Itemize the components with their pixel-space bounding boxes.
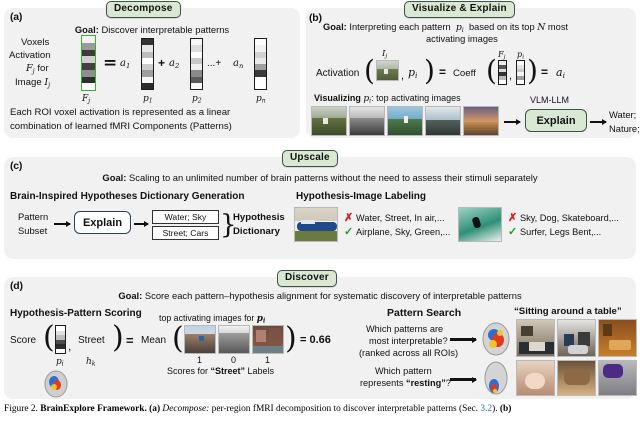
- score-value-1: 1: [197, 355, 202, 365]
- panel-b-activation-word: Activation: [316, 68, 359, 79]
- scores-caption-post: Labels: [245, 366, 274, 376]
- panel-b-coeff-word: Coeff: [453, 68, 476, 79]
- badge-visualize-explain: Visualize & Explain: [404, 1, 515, 18]
- panel-b-visualizing-caption: Visualizing pi: top activating images: [314, 93, 461, 105]
- panel-b-vlm-label: VLM-LLM: [530, 95, 569, 105]
- panel-a-footer-line-1: Each ROI voxel activation is represented…: [10, 107, 230, 118]
- brain-icon-interpretable: [480, 322, 512, 356]
- score-word: Score: [10, 335, 36, 346]
- caption-a-tag: (a): [149, 404, 160, 414]
- figure-caption: Figure 2. BrainExplore Framework. (a) De…: [4, 404, 638, 415]
- pattern-bar-p2: [190, 38, 203, 90]
- arrow-subset-to-explain: [54, 223, 70, 225]
- panel-b-paren-open-2: (: [486, 54, 497, 87]
- panel-b-output-line-2: Nature;: [609, 123, 640, 134]
- panel-a-footer-line-2: combination of learned fMRI Components (…: [10, 121, 232, 132]
- mean-paren-open: (: [172, 321, 184, 356]
- panel-c-left-heading: Brain-Inspired Hypotheses Dictionary Gen…: [10, 191, 245, 202]
- panel-a-lhs-line-3: Fj for: [26, 63, 49, 75]
- brain-icon-score: [42, 370, 70, 398]
- panel-b-paren-open-1: (: [364, 54, 375, 87]
- pattern-subset-line-2: Subset: [18, 225, 47, 236]
- panel-b-coeff-bar-label-pi: pi: [517, 49, 524, 61]
- score-pattern-label: pi: [56, 356, 64, 368]
- labeling-check-icon-1: ✓: [508, 225, 517, 238]
- panel-c-goal-text: Scaling to an unlimited number of brain …: [129, 172, 538, 183]
- labeling-right-0: Airplane, Sky, Green,...: [356, 227, 450, 237]
- panel-d-discover: (d) Goal: Score each pattern–hypothesis …: [4, 277, 636, 399]
- top-activating-image-5: [463, 106, 499, 136]
- labeling-wrong-0: Water, Street, In air,...: [356, 213, 445, 223]
- panel-c-goal-label: Goal:: [102, 172, 126, 183]
- result-image-1-0: [516, 360, 555, 396]
- score-paren-close: ): [112, 320, 124, 355]
- top-activating-image-1: [311, 106, 347, 136]
- panel-c-goal: Goal: Scaling to an unlimited number of …: [4, 172, 636, 183]
- panel-b-goal-label: Goal:: [323, 22, 347, 32]
- badge-discover: Discover: [277, 270, 337, 287]
- score-equals: =: [126, 333, 134, 348]
- panel-b-output-line-1: Water;: [609, 109, 636, 120]
- scores-caption-pre: Scores for: [167, 366, 211, 376]
- panel-b-pattern-arg: pi: [408, 66, 417, 80]
- panel-b-result: ai: [556, 66, 565, 80]
- stimulus-image-thumb: [376, 60, 399, 81]
- panel-c-letter: (c): [10, 160, 22, 172]
- panel-a-equals: =: [103, 53, 117, 73]
- result-image-0-2: [598, 319, 637, 357]
- coeff-bar-fj: [498, 60, 507, 85]
- score-value-2: 0: [231, 355, 236, 365]
- panel-a-bar-label-pn: pn: [256, 93, 266, 105]
- labeling-x-icon-0: ✗: [344, 211, 353, 224]
- panel-a-coeff-n: an: [233, 58, 243, 70]
- panel-b-visualize-explain: (b) Goal: Interpreting each pattern pi b…: [306, 8, 636, 138]
- result-image-1-1: [557, 360, 596, 396]
- hypothesis-dict-label-1: Hypothesis: [233, 212, 285, 223]
- top-activating-image-4: [425, 106, 461, 136]
- panel-c-upscale: (c) Goal: Scaling to an unlimited number…: [4, 157, 636, 259]
- hypothesis-dict-item-0: Water; Sky: [152, 210, 219, 224]
- arrow-explain-to-dict: [134, 223, 148, 225]
- top-activating-image-3: [387, 106, 423, 136]
- caption-a-name: Decompose:: [162, 404, 209, 414]
- score-image-1: [184, 325, 216, 354]
- labeling-right-1: Surfer, Legs Bent,...: [520, 227, 601, 237]
- score-paren-open: (: [43, 320, 55, 355]
- panel-a-coeff-2: a2: [169, 58, 179, 70]
- panel-b-coeff-bar-label-fj: Fj: [498, 49, 505, 61]
- panel-a-coeff-1: a1: [120, 58, 130, 70]
- voxel-activation-bar: [81, 35, 96, 91]
- top-activating-image-2: [349, 106, 385, 136]
- coeff-bar-pi: [516, 60, 525, 85]
- labeling-image-surfer: [458, 207, 502, 242]
- labeling-wrong-1: Sky, Dog, Skateboard,...: [520, 213, 619, 223]
- result-image-1-2: [598, 360, 637, 396]
- pattern-bar-p1: [141, 38, 154, 90]
- arrow-to-explain: [504, 121, 520, 123]
- scores-caption: Scores for “Street” Labels: [167, 366, 274, 376]
- panel-d-scoring-heading: Hypothesis-Pattern Scoring: [10, 308, 142, 319]
- panel-a-bar-label-p2: p2: [192, 93, 202, 105]
- panel-d-goal: Goal: Score each pattern–hypothesis alig…: [4, 290, 636, 301]
- scores-caption-bold: “Street”: [211, 366, 246, 376]
- score-result: = 0.66: [300, 334, 331, 346]
- panel-a-bar-label-fj: Fj: [82, 93, 90, 105]
- pattern-subset-line-1: Pattern: [18, 211, 48, 222]
- caption-b-tag: (b): [500, 404, 511, 414]
- panel-d-goal-text: Score each pattern–hypothesis alignment …: [145, 290, 522, 301]
- caption-prefix: Figure 2.: [4, 404, 38, 414]
- panel-a-lhs-line-1: Voxels: [21, 37, 49, 48]
- arrow-query-1: [450, 378, 476, 381]
- hypothesis-dict-item-1: Street; Cars: [152, 226, 219, 240]
- score-value-3: 1: [265, 355, 270, 365]
- score-hypothesis-word: Street: [78, 335, 105, 346]
- panel-b-equals-1: =: [439, 65, 446, 79]
- result-image-0-0: [516, 319, 555, 357]
- panel-a-lhs-line-4: Image Ij: [15, 77, 50, 89]
- mean-word: Mean: [141, 335, 166, 346]
- explain-button-b[interactable]: Explain: [525, 109, 587, 132]
- pattern-bar-pn: [254, 38, 267, 90]
- panel-c-right-heading: Hypothesis-Image Labeling: [296, 191, 426, 202]
- arrow-query-0: [450, 338, 476, 341]
- score-comma: ,: [68, 339, 71, 353]
- mean-paren-close: ): [285, 321, 297, 356]
- panel-b-visualizing-bold: Visualizing: [314, 93, 361, 103]
- panel-b-paren-close-1: ): [424, 54, 435, 87]
- figure-brainexplore: (a) Goal: Discover interpretable pattern…: [0, 0, 640, 423]
- panel-b-comma-2: ,: [509, 70, 512, 82]
- score-pattern-bar: [55, 325, 66, 354]
- labeling-check-icon-0: ✓: [344, 225, 353, 238]
- explain-button-c[interactable]: Explain: [74, 211, 131, 234]
- panel-b-letter: (b): [309, 12, 322, 24]
- query-1-line-2: represents “resting”?: [360, 378, 451, 388]
- panel-a-goal-label: Goal:: [75, 24, 99, 35]
- panel-d-search-heading: Pattern Search: [387, 307, 461, 319]
- result-image-0-1: [557, 319, 596, 357]
- score-hypothesis-label: hk: [86, 356, 96, 368]
- panel-a-decompose: (a) Goal: Discover interpretable pattern…: [4, 8, 300, 138]
- panel-b-goal-line-1: Goal: Interpreting each pattern pi based…: [323, 22, 568, 34]
- panel-b-visualizing-rest: : top activating images: [371, 93, 461, 103]
- labeling-image-airplane: [294, 207, 338, 242]
- hypothesis-dict-label-2: Dictionary: [233, 226, 280, 237]
- panel-a-lhs-line-2: Activation: [9, 50, 51, 61]
- badge-upscale: Upscale: [282, 150, 338, 167]
- brain-icon-resting: [482, 361, 510, 395]
- arrow-to-output: [590, 121, 606, 123]
- caption-title: BrainExplore Framework.: [40, 404, 147, 414]
- caption-a-tail: ).: [492, 404, 497, 414]
- panel-b-comma-1: ,: [401, 70, 404, 82]
- badge-decompose: Decompose: [106, 1, 181, 18]
- panel-b-image-label: Ij: [382, 48, 387, 60]
- score-image-3: [252, 325, 284, 354]
- panel-a-letter: (a): [10, 11, 22, 23]
- caption-a-text: per-region fMRI decomposition to discove…: [212, 404, 478, 414]
- query-1-line-1: Which pattern: [375, 366, 432, 376]
- pattern-search-result-title: “Sitting around a table”: [514, 306, 622, 317]
- panel-a-plus-1: +: [158, 56, 165, 70]
- panel-b-goal-line-2: activating images: [426, 34, 498, 44]
- query-0-line-3: (ranked across all ROIs): [359, 348, 458, 358]
- panel-b-equals-2: =: [541, 65, 548, 79]
- panel-a-bar-label-p1: p1: [143, 93, 153, 105]
- panel-b-paren-close-2: ): [527, 54, 538, 87]
- panel-a-goal-text: Discover interpretable patterns: [101, 24, 229, 35]
- labeling-x-icon-1: ✗: [508, 211, 517, 224]
- query-0-line-1: Which patterns are: [366, 324, 443, 334]
- query-0-line-2: most interpretable?: [369, 336, 448, 346]
- panel-b-goal-text-1: Interpreting each pattern pi based on it…: [349, 22, 568, 32]
- panel-a-ellipsis-plus: ...+: [207, 58, 221, 69]
- panel-d-goal-label: Goal:: [118, 290, 142, 301]
- score-image-2: [218, 325, 250, 354]
- caption-a-ref[interactable]: 3.2: [480, 404, 492, 414]
- panel-a-goal: Goal: Discover interpretable patterns: [4, 24, 300, 35]
